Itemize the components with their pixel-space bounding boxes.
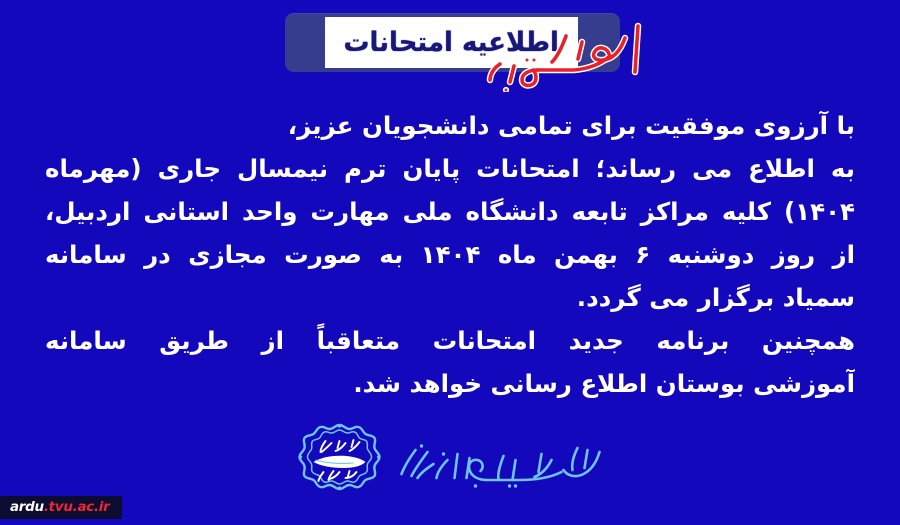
website-url-badge[interactable]: ardu.tvu.ac.ir bbox=[0, 496, 122, 520]
announcement-body: با آرزوی موفقیت برای تمامی دانشجویان عزی… bbox=[45, 104, 855, 405]
body-line: ۱۴۰۴) کلیه مراکز تابعه دانشگاه ملی مهارت… bbox=[45, 190, 855, 233]
body-line: آموزشی بوستان اطلاع رسانی خواهد شد. bbox=[45, 362, 855, 405]
footer-calligraphy bbox=[392, 434, 607, 494]
url-site-name: ardu bbox=[10, 499, 44, 515]
university-logo-icon bbox=[294, 421, 386, 507]
url-domain: .tvu.ac.ir bbox=[44, 499, 110, 515]
body-line: به اطلاع می رساند؛ امتحانات پایان ترم نی… bbox=[45, 147, 855, 190]
body-line: همچنین برنامه جدید امتحانات متعاقباً از … bbox=[45, 319, 855, 362]
body-line: از روز دوشنبه ۶ بهمن ماه ۱۴۰۴ به صورت مج… bbox=[45, 233, 855, 276]
footer bbox=[0, 421, 900, 507]
body-line: با آرزوی موفقیت برای تمامی دانشجویان عزی… bbox=[45, 104, 855, 147]
title-box: اطلاعیه امتحانات bbox=[325, 17, 578, 68]
body-line: سمیاد برگزار می گردد. bbox=[45, 276, 855, 319]
page-title: اطلاعیه امتحانات bbox=[344, 29, 559, 56]
announcement-poster: اطلاعیه امتحانات bbox=[0, 0, 900, 525]
